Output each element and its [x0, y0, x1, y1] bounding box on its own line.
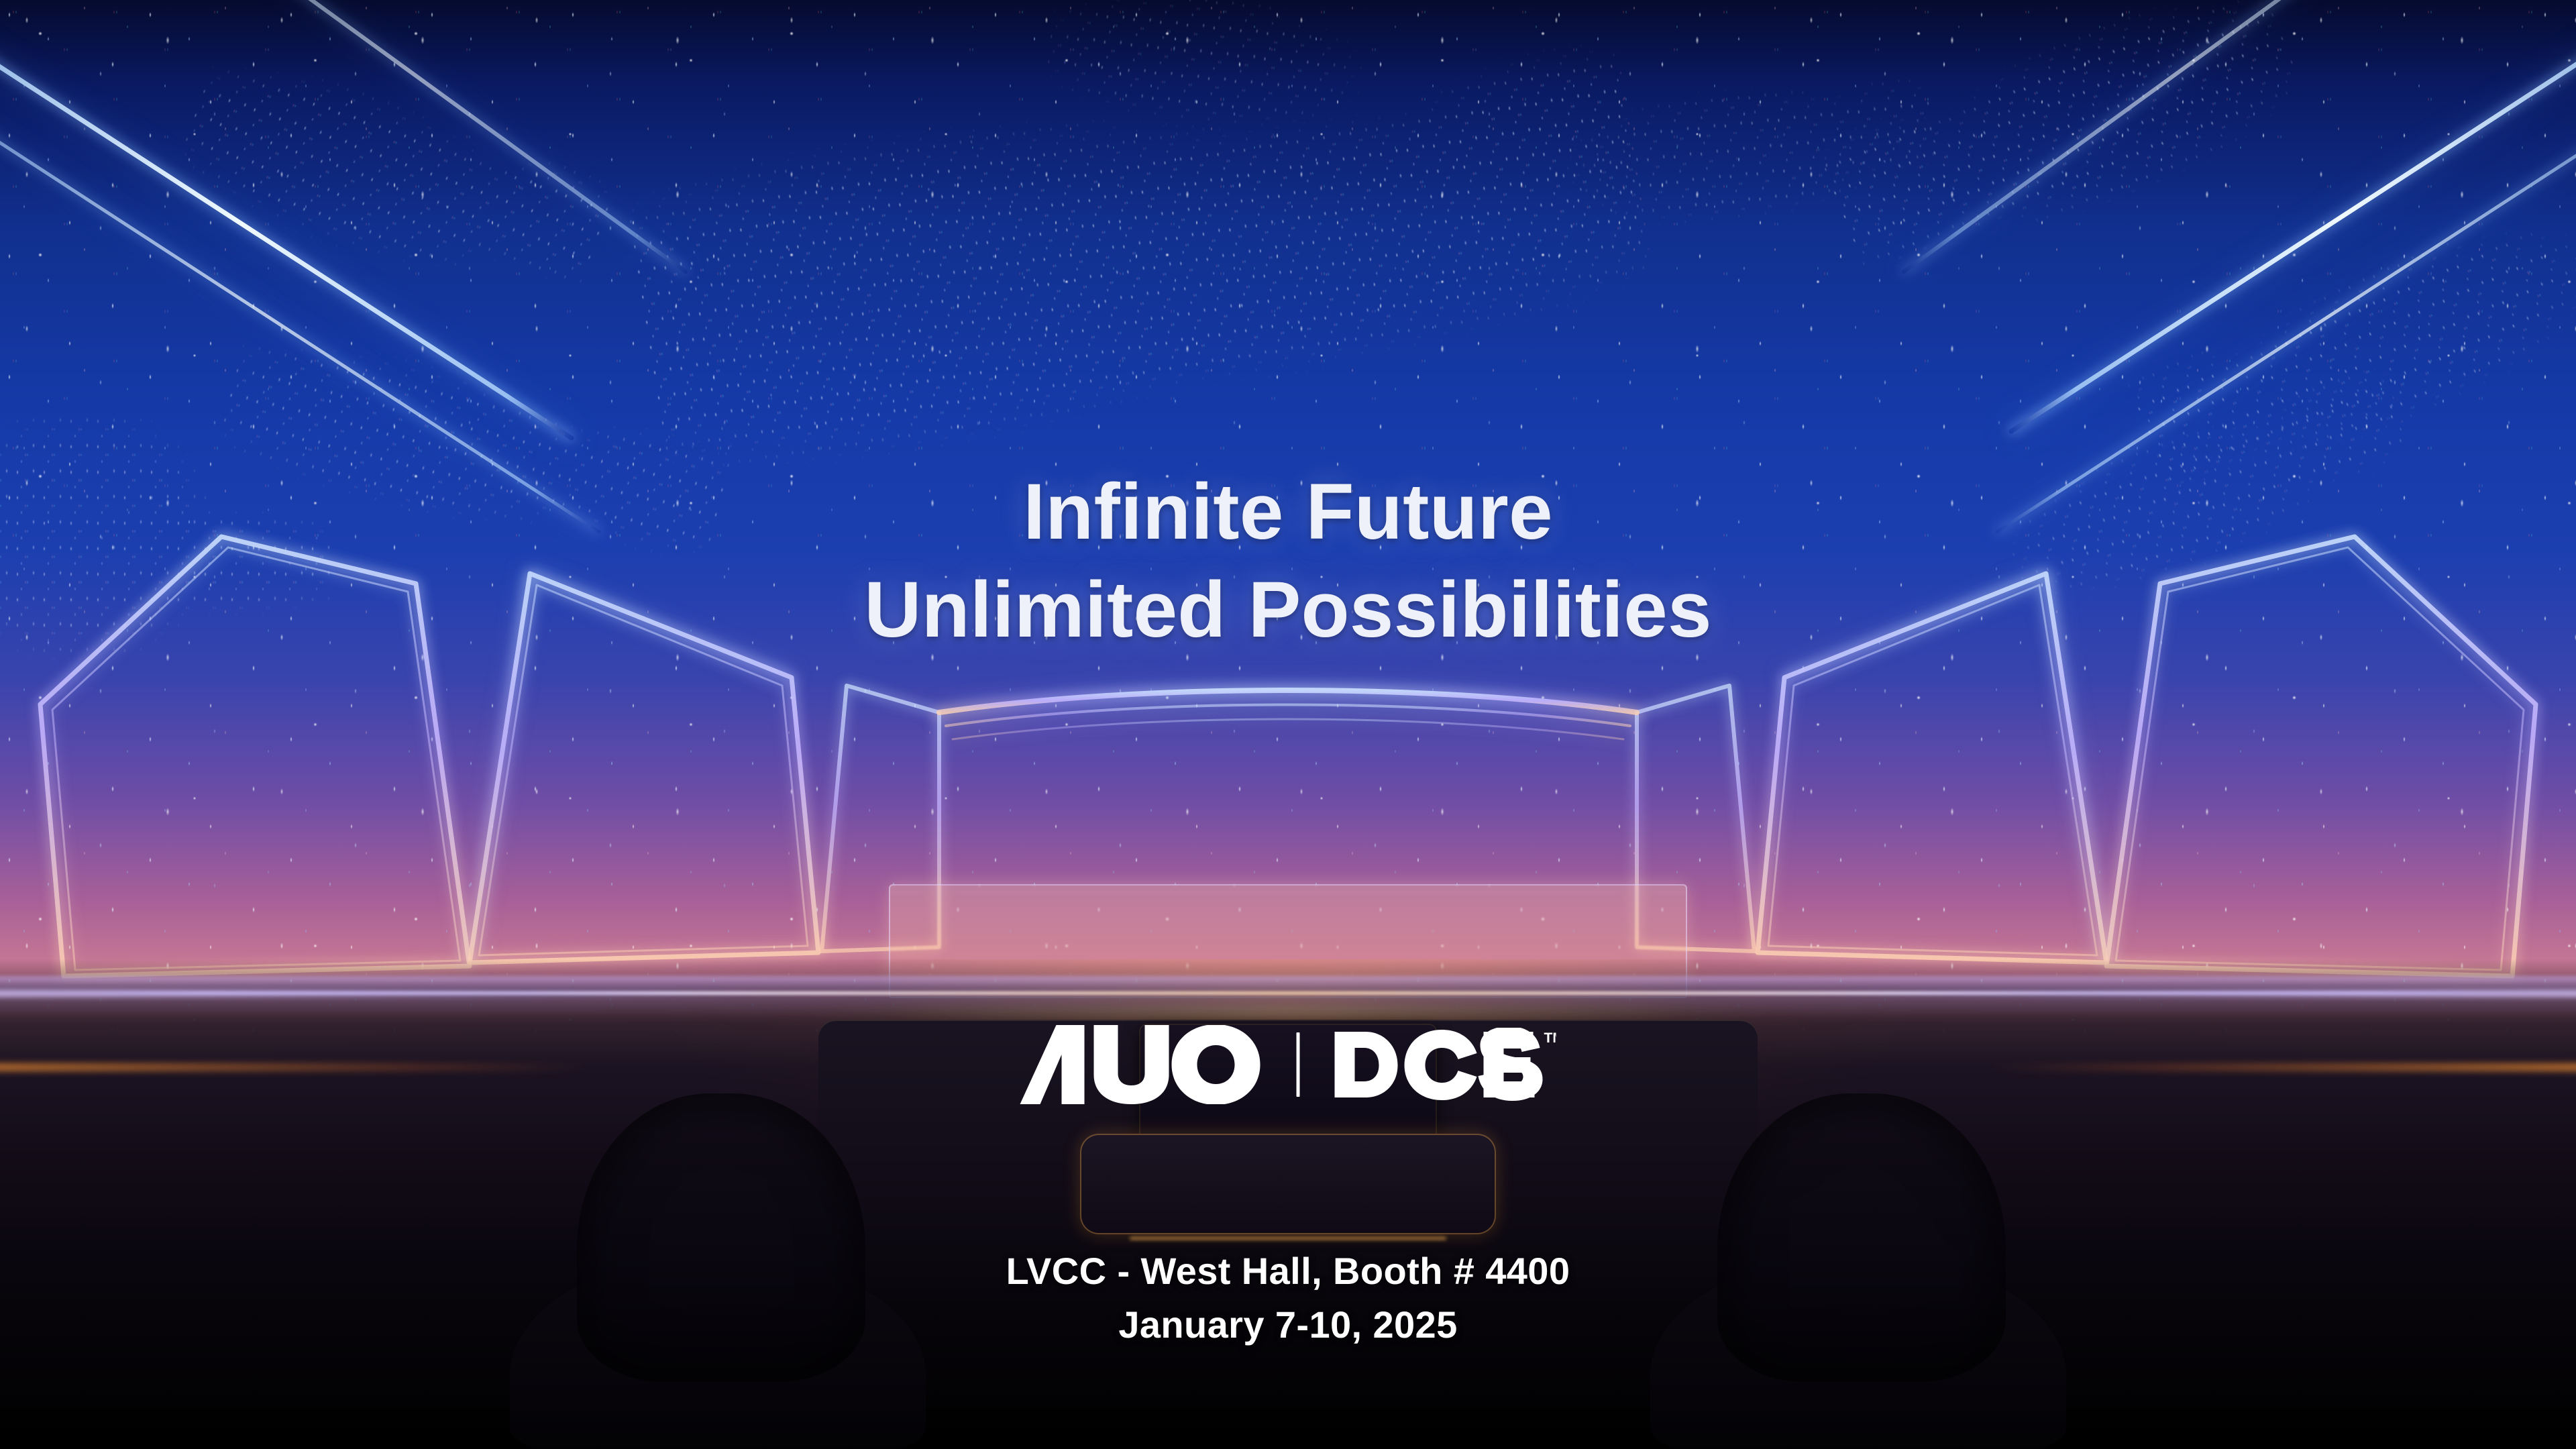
headline-line-1: Infinite Future — [0, 463, 2576, 561]
logo-lockup: TM — [1020, 1025, 1556, 1104]
steering-yoke — [1080, 1134, 1496, 1234]
venue-dates: January 7-10, 2025 — [0, 1298, 2576, 1352]
ces-trademark-symbol: TM — [1544, 1030, 1556, 1046]
headline-line-2: Unlimited Possibilities — [0, 561, 2576, 659]
key-visual-canvas: Infinite Future Unlimited Possibilities — [0, 0, 2576, 1449]
venue-details: LVCC - West Hall, Booth # 4400 January 7… — [0, 1244, 2576, 1351]
auo-logo — [1020, 1025, 1262, 1104]
ces-logo: TM — [1335, 1028, 1556, 1102]
door-light-streak-right — [1825, 990, 2576, 997]
logo-divider — [1297, 1032, 1300, 1097]
door-light-streak-left — [0, 990, 751, 997]
ambient-amber-light-right — [1986, 1063, 2576, 1071]
venue-location: LVCC - West Hall, Booth # 4400 — [0, 1244, 2576, 1298]
ambient-amber-light-left — [0, 1063, 590, 1071]
headline: Infinite Future Unlimited Possibilities — [0, 463, 2576, 659]
